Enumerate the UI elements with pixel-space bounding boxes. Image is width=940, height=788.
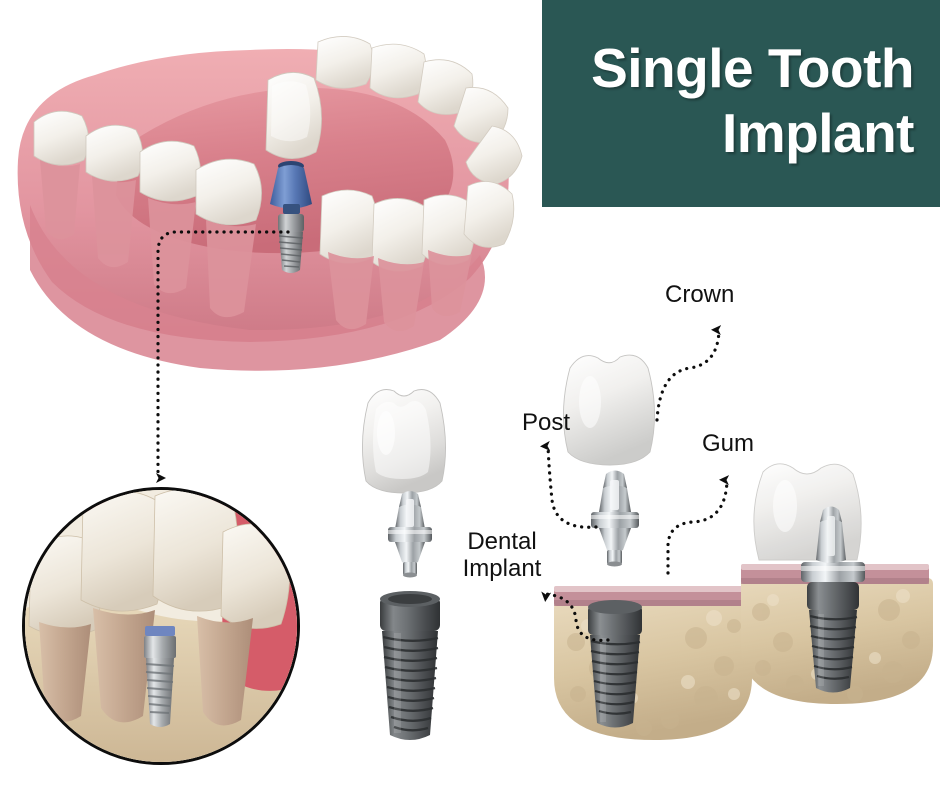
magnified-inset-circle — [22, 487, 300, 765]
title-banner: Single Tooth Implant — [542, 0, 940, 207]
bone-block-with-implant — [548, 350, 763, 750]
lower-jaw-illustration — [0, 0, 540, 380]
bone-block-with-full-assembly — [737, 462, 940, 750]
bone-block-a — [554, 586, 752, 740]
title-line-2: Implant — [722, 101, 914, 166]
right-floating-crown — [563, 355, 654, 465]
exploded-implant-screw — [380, 591, 440, 740]
callout-gum: Gum — [702, 430, 754, 457]
exploded-crown — [362, 390, 445, 494]
assembled-crown — [754, 464, 861, 563]
right-floating-post — [591, 471, 639, 567]
exploded-post — [388, 491, 432, 578]
callout-dental-implant: Dental Implant — [452, 528, 552, 582]
title-line-1: Single Tooth — [591, 36, 914, 101]
jaw-implant-screw — [278, 214, 304, 273]
jaw-exploded-crown — [266, 72, 322, 158]
right-implant-in-bone — [588, 600, 642, 728]
infographic-canvas: Crown Post Gum Dental Implant Single Too… — [0, 0, 940, 788]
magnified-inset-art — [25, 490, 297, 762]
callout-crown: Crown — [665, 281, 734, 308]
callout-post: Post — [522, 409, 570, 436]
